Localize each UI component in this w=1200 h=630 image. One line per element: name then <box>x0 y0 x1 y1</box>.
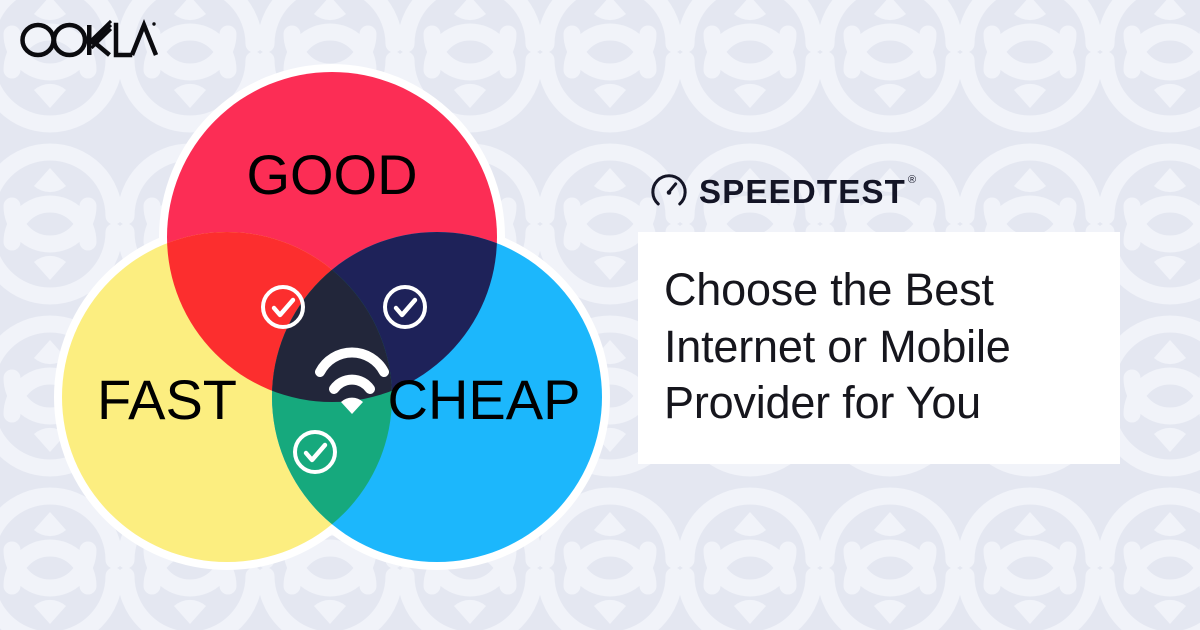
venn-diagram: GOOD FAST CHEAP <box>52 62 612 572</box>
speedtest-wordmark: SPEEDTEST <box>699 175 906 208</box>
venn-label-good: GOOD <box>246 143 417 206</box>
headline-card: Choose the Best Internet or Mobile Provi… <box>638 232 1120 464</box>
registered-mark-icon: ® <box>908 174 916 186</box>
registered-mark-icon <box>152 22 155 25</box>
venn-label-cheap: CHEAP <box>388 368 581 431</box>
speedometer-gauge-icon <box>650 172 688 210</box>
page-title: Choose the Best Internet or Mobile Provi… <box>664 262 1094 432</box>
right-column: SPEEDTEST ® Choose the Best Internet or … <box>638 168 1120 464</box>
speedtest-social-card: GOOD FAST CHEAP <box>0 0 1200 630</box>
speedtest-logo[interactable]: SPEEDTEST ® <box>650 168 1120 214</box>
venn-label-fast: FAST <box>97 368 237 431</box>
ookla-logo[interactable] <box>18 18 158 58</box>
